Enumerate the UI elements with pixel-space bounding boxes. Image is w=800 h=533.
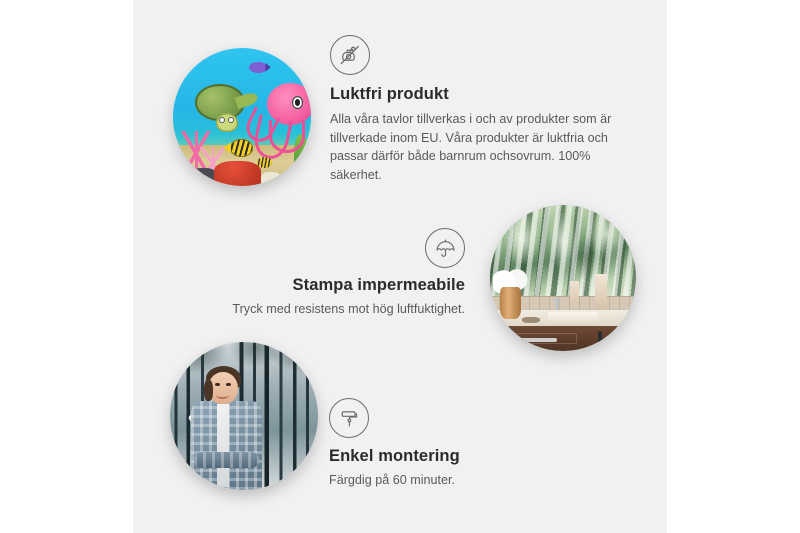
octopus-eye [292, 96, 303, 108]
soap-dish [522, 317, 540, 323]
infographic-page: Luktfri produkt Alla våra tavlor tillver… [0, 0, 800, 533]
woman-smile [216, 391, 229, 399]
cabinet-handle-right [616, 331, 620, 350]
photo-bathroom-tropical-leaf-wallpaper [490, 205, 636, 351]
photo-sea-artwork [173, 48, 311, 186]
woman-crossed-arms [194, 452, 259, 468]
woman-eye-left [215, 383, 220, 386]
photo-woman-painter-forest-mural [170, 342, 318, 490]
feature-description: Färgdig på 60 minuter. [329, 471, 579, 490]
feature-description: Alla våra tavlor tillverkas i och av pro… [330, 110, 620, 184]
photo-forest-artwork [170, 342, 318, 490]
woman-inner-shirt [217, 404, 229, 487]
feature-description: Tryck med resistens mot hög luftfuktighe… [213, 300, 465, 319]
feature-odour-free: Luktfri produkt Alla våra tavlor tillver… [330, 35, 620, 184]
toiletry-bottle-short [570, 281, 579, 304]
sink-basin [548, 312, 598, 324]
rock-white [261, 172, 280, 186]
cabinet-handle-left [598, 331, 602, 350]
wooden-vase [500, 287, 520, 319]
toiletry-bottle-tall [595, 274, 607, 309]
paint-roller-icon [329, 398, 369, 438]
drawer-handle [519, 338, 557, 342]
rock-red [214, 161, 261, 186]
feature-title: Enkel montering [329, 447, 579, 466]
fish-purple-icon [249, 62, 267, 73]
infographic-canvas: Luktfri produkt Alla våra tavlor tillver… [133, 0, 667, 533]
umbrella-icon [425, 228, 465, 268]
rock-dark [190, 168, 218, 186]
photo-underwater-sea-life-kids-mural [173, 48, 311, 186]
woman-face [208, 372, 238, 405]
feature-waterproof-print: Stampa impermeabile Tryck med resistens … [213, 228, 465, 319]
feature-title: Stampa impermeabile [213, 276, 465, 295]
forest-canopy [170, 342, 318, 395]
photo-bath-artwork [490, 205, 636, 351]
feature-easy-mounting: Enkel montering Färgdig på 60 minuter. [329, 398, 579, 490]
turtle-head [216, 113, 238, 132]
woman-hair-side [204, 380, 213, 401]
no-fragrance-spray-icon [330, 35, 370, 75]
fish-yellow-striped-icon [230, 139, 253, 157]
woman-eye-right [226, 383, 231, 386]
feature-title: Luktfri produkt [330, 85, 620, 104]
